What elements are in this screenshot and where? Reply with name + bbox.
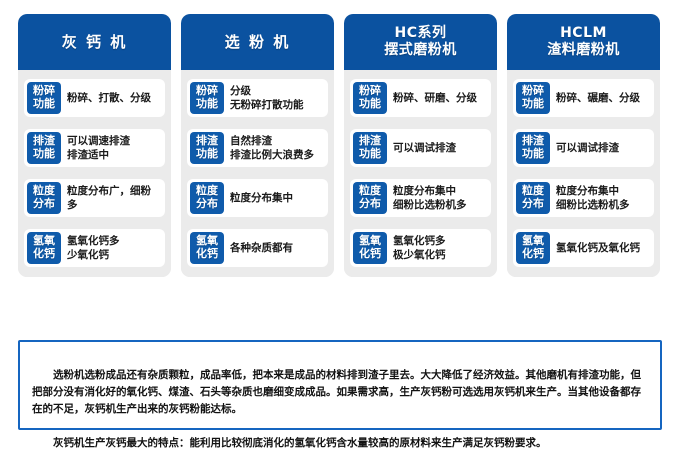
spec-tag: 粒度 分布 <box>190 182 224 214</box>
spec-value: 粉碎、研磨、分级 <box>393 91 486 105</box>
spec-tag: 排渣 功能 <box>27 132 61 164</box>
spec-tag: 排渣 功能 <box>190 132 224 164</box>
spec-row: 粒度 分布 粒度分布广，细粉多 <box>24 179 165 217</box>
product-card-3-header: HC系列 摆式磨粉机 <box>344 14 497 70</box>
spec-value: 可以调试排渣 <box>556 141 649 155</box>
spec-tag: 排渣 功能 <box>353 132 387 164</box>
product-card-1-header: 灰 钙 机 <box>18 14 171 70</box>
spec-row: 粉碎 功能 粉碎、打散、分级 <box>24 79 165 117</box>
product-comparison-cards: 灰 钙 机 粉碎 功能 粉碎、打散、分级 排渣 功能 可以调速排渣 排渣适中 粒… <box>18 14 662 277</box>
product-card-4-header: HCLM 渣料磨粉机 <box>507 14 660 70</box>
comparison-infographic: 灰 钙 机 粉碎 功能 粉碎、打散、分级 排渣 功能 可以调速排渣 排渣适中 粒… <box>0 0 680 446</box>
spec-tag: 氢氧 化钙 <box>27 232 61 264</box>
product-card-4-title: HCLM 渣料磨粉机 <box>547 25 620 60</box>
spec-tag: 氢氧 化钙 <box>190 232 224 264</box>
spec-row: 排渣 功能 自然排渣 排渣比例大浪费多 <box>187 129 328 167</box>
product-card-1-body: 粉碎 功能 粉碎、打散、分级 排渣 功能 可以调速排渣 排渣适中 粒度 分布 粒… <box>18 70 171 277</box>
product-card-2-header: 选 粉 机 <box>181 14 334 70</box>
spec-value: 可以调试排渣 <box>393 141 486 155</box>
spec-row: 粉碎 功能 粉碎、碾磨、分级 <box>513 79 654 117</box>
spec-tag: 排渣 功能 <box>516 132 550 164</box>
spec-row: 排渣 功能 可以调试排渣 <box>350 129 491 167</box>
product-card-3-body: 粉碎 功能 粉碎、研磨、分级 排渣 功能 可以调试排渣 粒度 分布 粒度分布集中… <box>344 70 497 277</box>
product-card-3-title: HC系列 摆式磨粉机 <box>384 25 457 60</box>
spec-row: 氢氧 化钙 各种杂质都有 <box>187 229 328 267</box>
spec-value: 氢氧化钙及氧化钙 <box>556 241 649 255</box>
spec-tag: 粒度 分布 <box>353 182 387 214</box>
spec-value: 粒度分布集中 细粉比选粉机多 <box>393 184 486 213</box>
spec-tag: 粒度 分布 <box>516 182 550 214</box>
summary-note-paragraph-2: 灰钙机生产灰钙最大的特点：能利用比较彻底消化的氢氧化钙含水量较高的原材料来生产满… <box>32 435 648 452</box>
spec-tag: 氢氧 化钙 <box>516 232 550 264</box>
product-card-4: HCLM 渣料磨粉机 粉碎 功能 粉碎、碾磨、分级 排渣 功能 可以调试排渣 粒… <box>507 14 660 277</box>
product-card-1-title: 灰 钙 机 <box>62 33 127 52</box>
spec-value: 粒度分布广，细粉多 <box>67 184 160 213</box>
spec-row: 粒度 分布 粒度分布集中 细粉比选粉机多 <box>513 179 654 217</box>
spec-row: 氢氧 化钙 氢氧化钙及氧化钙 <box>513 229 654 267</box>
spec-row: 氢氧 化钙 氢氧化钙多 少氧化钙 <box>24 229 165 267</box>
spec-value: 各种杂质都有 <box>230 241 323 255</box>
spec-tag: 粒度 分布 <box>27 182 61 214</box>
spec-tag: 粉碎 功能 <box>27 82 61 114</box>
summary-note-box: 选粉机选粉成品还有杂质颗粒，成品率低，把本来是成品的材料排到渣子里去。大大降低了… <box>18 340 662 430</box>
spec-value: 氢氧化钙多 少氧化钙 <box>67 234 160 263</box>
spec-tag: 粉碎 功能 <box>516 82 550 114</box>
spec-value: 可以调速排渣 排渣适中 <box>67 134 160 163</box>
product-card-2-body: 粉碎 功能 分级 无粉碎打散功能 排渣 功能 自然排渣 排渣比例大浪费多 粒度 … <box>181 70 334 277</box>
spec-row: 粒度 分布 粒度分布集中 细粉比选粉机多 <box>350 179 491 217</box>
spec-value: 分级 无粉碎打散功能 <box>230 84 323 113</box>
spec-tag: 氢氧 化钙 <box>353 232 387 264</box>
spec-row: 粉碎 功能 粉碎、研磨、分级 <box>350 79 491 117</box>
spec-row: 氢氧 化钙 氢氧化钙多 极少氧化钙 <box>350 229 491 267</box>
spec-value: 自然排渣 排渣比例大浪费多 <box>230 134 323 163</box>
product-card-4-body: 粉碎 功能 粉碎、碾磨、分级 排渣 功能 可以调试排渣 粒度 分布 粒度分布集中… <box>507 70 660 277</box>
spec-value: 粉碎、碾磨、分级 <box>556 91 649 105</box>
spec-row: 排渣 功能 可以调试排渣 <box>513 129 654 167</box>
spec-value: 粒度分布集中 <box>230 191 323 205</box>
product-card-2: 选 粉 机 粉碎 功能 分级 无粉碎打散功能 排渣 功能 自然排渣 排渣比例大浪… <box>181 14 334 277</box>
product-card-3: HC系列 摆式磨粉机 粉碎 功能 粉碎、研磨、分级 排渣 功能 可以调试排渣 粒… <box>344 14 497 277</box>
spec-row: 粒度 分布 粒度分布集中 <box>187 179 328 217</box>
summary-note-paragraph-1: 选粉机选粉成品还有杂质颗粒，成品率低，把本来是成品的材料排到渣子里去。大大降低了… <box>32 367 648 418</box>
product-card-2-title: 选 粉 机 <box>225 33 290 52</box>
spec-row: 排渣 功能 可以调速排渣 排渣适中 <box>24 129 165 167</box>
product-card-1: 灰 钙 机 粉碎 功能 粉碎、打散、分级 排渣 功能 可以调速排渣 排渣适中 粒… <box>18 14 171 277</box>
spec-value: 粒度分布集中 细粉比选粉机多 <box>556 184 649 213</box>
spec-tag: 粉碎 功能 <box>190 82 224 114</box>
spec-value: 粉碎、打散、分级 <box>67 91 160 105</box>
spec-value: 氢氧化钙多 极少氧化钙 <box>393 234 486 263</box>
spec-tag: 粉碎 功能 <box>353 82 387 114</box>
spec-row: 粉碎 功能 分级 无粉碎打散功能 <box>187 79 328 117</box>
summary-note-text: 选粉机选粉成品还有杂质颗粒，成品率低，把本来是成品的材料排到渣子里去。大大降低了… <box>32 350 648 469</box>
